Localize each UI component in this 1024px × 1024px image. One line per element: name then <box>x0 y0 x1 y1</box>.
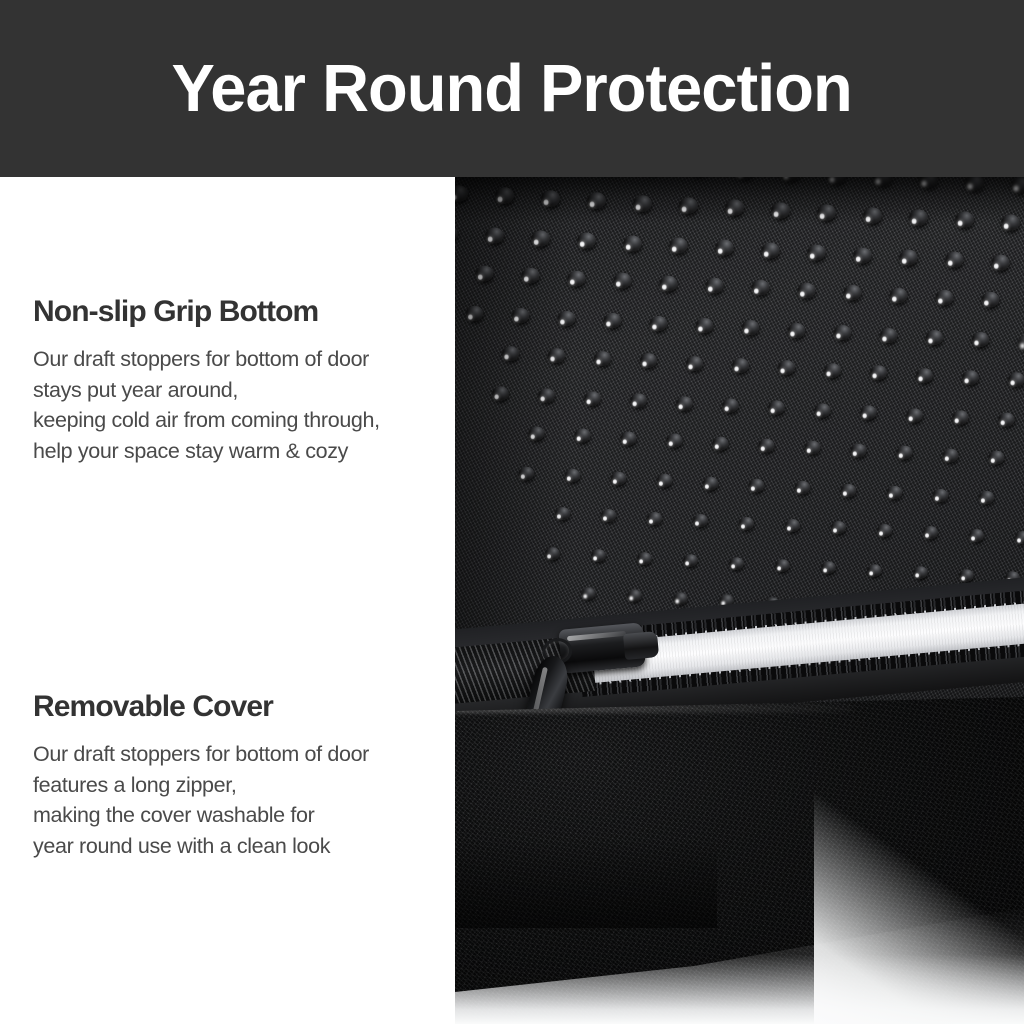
grip-dot <box>933 488 948 501</box>
grip-dot <box>683 554 698 567</box>
grip-dot <box>899 250 917 266</box>
grip-dot <box>1018 335 1024 350</box>
grip-dot <box>785 519 800 532</box>
infographic-page: Year Round Protection Non-slip Grip Bott… <box>0 0 1024 1024</box>
grip-dot <box>821 562 835 575</box>
grip-dot <box>601 509 616 522</box>
grip-dot <box>623 235 641 251</box>
grip-dot <box>844 285 862 300</box>
grip-dot <box>627 590 641 602</box>
grip-dot <box>853 247 871 263</box>
grip-dot <box>775 559 790 572</box>
feature-body-line: features a long zipper, <box>33 770 443 801</box>
photo-backdrop-right <box>814 794 1024 1024</box>
grip-dot <box>749 479 764 492</box>
feature-body-line: making the cover washable for <box>33 800 443 831</box>
grip-dot <box>752 280 770 295</box>
text-panel: Non-slip Grip Bottom Our draft stoppers … <box>0 177 455 1024</box>
header-banner: Year Round Protection <box>0 0 1024 177</box>
grip-dot <box>1008 373 1024 388</box>
feature-body-line: year round use with a clean look <box>33 831 443 862</box>
grip-dot <box>660 275 678 291</box>
grip-dot <box>979 491 994 504</box>
grip-dot <box>686 356 703 371</box>
feature-body: Our draft stoppers for bottom of door fe… <box>33 739 443 862</box>
product-photo <box>455 177 1024 1024</box>
grip-dot <box>647 512 662 525</box>
grip-dot <box>788 323 805 338</box>
feature-body-line: keeping cold air from coming through, <box>33 405 443 436</box>
zipper-slider-nose <box>623 631 659 660</box>
grip-dot <box>851 443 867 457</box>
grip-dot <box>768 401 784 415</box>
grip-dot <box>732 358 749 373</box>
photo-bottom-shading <box>455 838 717 928</box>
feature-heading: Non-slip Grip Bottom <box>33 295 443 328</box>
grip-dot <box>729 557 744 570</box>
grip-dot <box>824 363 841 378</box>
grip-dot <box>807 245 825 261</box>
grip-dot <box>870 365 887 380</box>
grip-dot <box>759 439 775 453</box>
grip-dot <box>952 410 968 424</box>
grip-dot <box>706 278 724 294</box>
grip-dot <box>778 361 795 376</box>
grip-dot <box>722 398 738 412</box>
grip-dot <box>584 391 601 405</box>
grip-dot <box>945 252 963 268</box>
grip-dot <box>1015 531 1024 544</box>
grip-dot <box>831 521 846 534</box>
feature-body-line: Our draft stoppers for bottom of door <box>33 739 443 770</box>
grip-dot <box>991 254 1009 270</box>
grip-dot <box>814 403 830 417</box>
grip-dot <box>574 429 590 443</box>
grip-dot <box>614 273 632 289</box>
grip-dot <box>669 238 687 254</box>
grip-dot <box>798 283 816 298</box>
grip-dot <box>761 242 779 258</box>
grip-dot <box>962 370 979 385</box>
grip-dot <box>591 550 606 563</box>
feature-heading: Removable Cover <box>33 690 443 723</box>
grip-dot <box>906 408 922 422</box>
feature-body-line: Our draft stoppers for bottom of door <box>33 344 443 375</box>
grip-dot <box>604 313 621 328</box>
grip-dot <box>650 316 667 331</box>
grip-dot <box>611 472 627 485</box>
grip-dot <box>880 328 897 343</box>
grip-dot <box>640 353 657 368</box>
feature-block-removable-cover: Removable Cover Our draft stoppers for b… <box>33 690 443 862</box>
grip-dot <box>581 587 595 599</box>
grip-dot <box>696 318 713 333</box>
grip-dot <box>713 436 729 450</box>
grip-dot <box>841 484 856 497</box>
grip-dot <box>715 240 733 256</box>
grip-dot <box>805 441 821 455</box>
feature-body-line: help your space stay warm & cozy <box>33 436 443 467</box>
grip-dot <box>989 451 1005 465</box>
grip-dot <box>890 287 908 302</box>
grip-dot <box>795 481 810 494</box>
feature-body: Our draft stoppers for bottom of door st… <box>33 344 443 467</box>
feature-body-line: stays put year around, <box>33 375 443 406</box>
grip-dot <box>594 351 611 366</box>
grip-dot <box>877 524 892 537</box>
grip-dot <box>887 486 902 499</box>
feature-block-non-slip-grip-bottom: Non-slip Grip Bottom Our draft stoppers … <box>33 295 443 467</box>
grip-dot <box>913 566 927 578</box>
page-title: Year Round Protection <box>172 55 852 122</box>
grip-dot <box>923 526 938 539</box>
grip-dot <box>703 476 719 489</box>
grip-dot <box>676 396 692 410</box>
grip-dot <box>972 332 989 347</box>
grip-dot <box>969 529 984 542</box>
grip-dot <box>666 434 682 448</box>
grip-dot <box>860 406 876 420</box>
grip-dot <box>742 320 759 335</box>
grip-dot <box>897 446 913 460</box>
grip-dot <box>943 448 959 462</box>
grip-dot <box>916 368 933 383</box>
grip-dot <box>834 325 851 340</box>
grip-dot <box>693 514 708 527</box>
grip-dot <box>936 290 954 305</box>
grip-dot <box>657 474 673 487</box>
grip-dot <box>982 292 1000 307</box>
grip-dot <box>867 564 881 577</box>
grip-dot <box>926 330 943 345</box>
grip-dot <box>630 394 647 408</box>
grip-dot <box>620 431 636 445</box>
grip-dot <box>577 233 595 249</box>
grip-dot <box>998 413 1014 427</box>
grip-dot <box>739 517 754 530</box>
grip-dot <box>637 552 652 565</box>
